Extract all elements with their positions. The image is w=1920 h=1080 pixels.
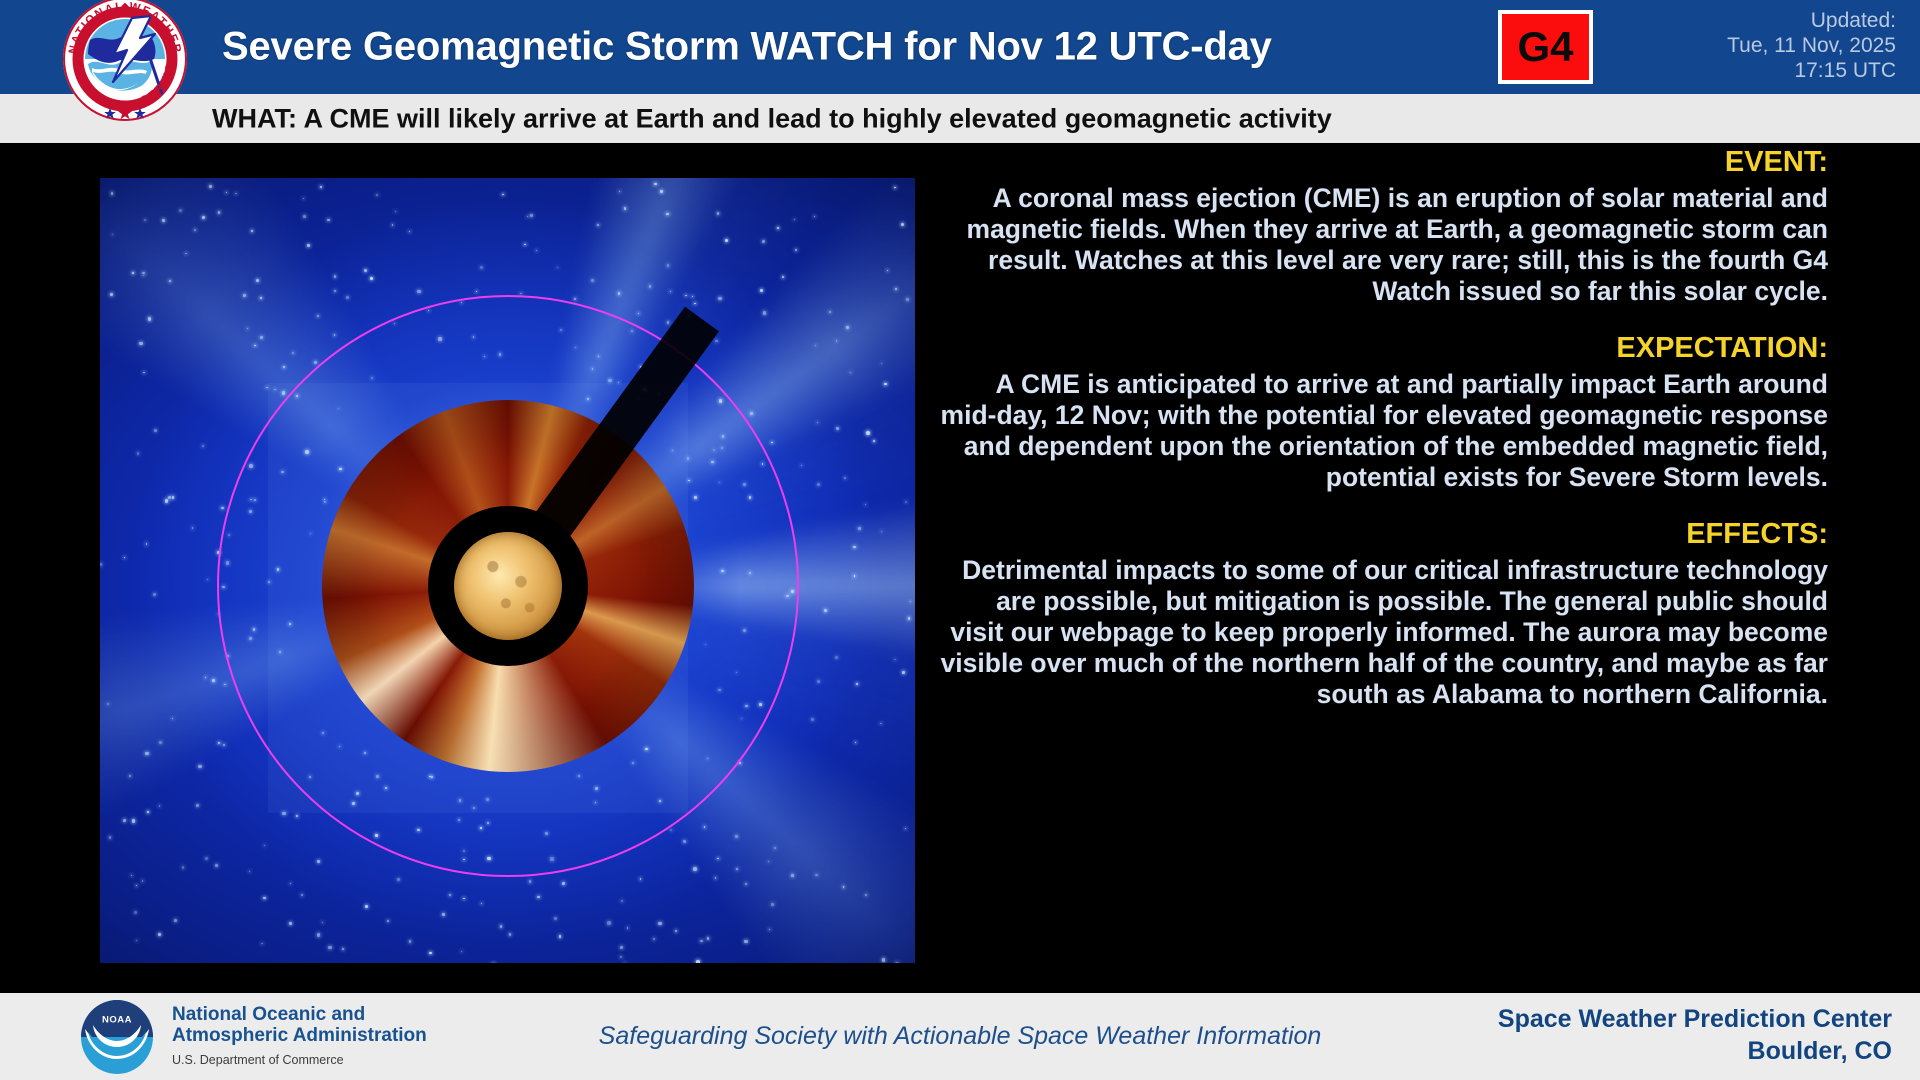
swpc-attribution: Space Weather Prediction Center Boulder,… — [1498, 1003, 1892, 1067]
updated-date: Tue, 11 Nov, 2025 — [1727, 33, 1896, 58]
page-title: Severe Geomagnetic Storm WATCH for Nov 1… — [222, 25, 1272, 70]
swpc-center-name: Space Weather Prediction Center — [1498, 1003, 1892, 1035]
national-weather-service-logo-icon: ⬥ NATIONAL WEATHER SERVICE — [62, 0, 188, 122]
swpc-center-location: Boulder, CO — [1498, 1035, 1892, 1067]
what-summary-bar: WHAT: A CME will likely arrive at Earth … — [0, 94, 1920, 143]
section-effects-body: Detrimental impacts to some of our criti… — [940, 555, 1828, 710]
updated-label: Updated: — [1727, 8, 1896, 33]
section-expectation: EXPECTATION: A CME is anticipated to arr… — [940, 329, 1828, 493]
page-footer: NOAA National Oceanic and Atmospheric Ad… — [0, 993, 1920, 1080]
section-event: EVENT: A coronal mass ejection (CME) is … — [940, 143, 1828, 307]
section-effects: EFFECTS: Detrimental impacts to some of … — [940, 515, 1828, 710]
updated-time: 17:15 UTC — [1727, 58, 1896, 83]
section-expectation-body: A CME is anticipated to arrive at and pa… — [940, 369, 1828, 493]
advisory-text-panel: EVENT: A coronal mass ejection (CME) is … — [940, 143, 1828, 993]
section-effects-heading: EFFECTS: — [940, 515, 1828, 553]
section-event-heading: EVENT: — [940, 143, 1828, 181]
coronagraph-image — [100, 178, 915, 963]
main-content: EVENT: A coronal mass ejection (CME) is … — [0, 143, 1920, 993]
euv-solar-disk — [454, 532, 562, 640]
storm-scale-badge: G4 — [1498, 10, 1593, 84]
coronagraph-background — [100, 178, 915, 963]
storm-scale-badge-label: G4 — [1517, 23, 1573, 71]
noaa-line-3: U.S. Department of Commerce — [172, 1050, 427, 1071]
page-header: Severe Geomagnetic Storm WATCH for Nov 1… — [0, 0, 1920, 94]
section-event-body: A coronal mass ejection (CME) is an erup… — [940, 183, 1828, 307]
what-summary-text: WHAT: A CME will likely arrive at Earth … — [212, 103, 1332, 134]
section-expectation-heading: EXPECTATION: — [940, 329, 1828, 367]
updated-timestamp: Updated: Tue, 11 Nov, 2025 17:15 UTC — [1727, 8, 1896, 83]
